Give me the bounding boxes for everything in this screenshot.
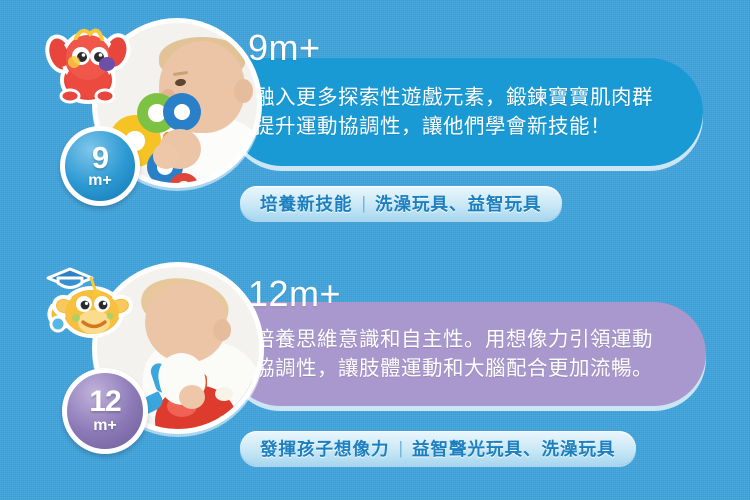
description-text-9m: 融入更多探索性遊戲元素，鍛鍊寶寶肌肉群 提升運動協調性，讓他們學會新技能！ xyxy=(254,83,653,141)
baby-hand xyxy=(153,143,179,169)
tagline-pill-12m: 發揮孩子想像力 | 益智聲光玩具、洗澡玩具 xyxy=(240,431,636,465)
age-section-9m: 融入更多探索性遊戲元素，鍛鍊寶寶肌肉群 提升運動協調性，讓他們學會新技能！ 9m… xyxy=(0,0,750,245)
ball-fin-white-icon xyxy=(215,387,233,401)
age-guide-poster: 融入更多探索性遊戲元素，鍛鍊寶寶肌肉群 提升運動協調性，讓他們學會新技能！ 9m… xyxy=(0,0,750,500)
description-panel-12m: 培養思維意識和自主性。用想像力引領運動 協調性，讓肢體運動和大腦配合更加流暢。 xyxy=(228,302,706,406)
age-badge-unit-12m: m+ xyxy=(93,418,117,434)
baby-ear xyxy=(234,79,253,103)
age-badge-number-9m: 9 xyxy=(92,143,108,173)
age-headline-12m: 12m+ xyxy=(248,276,341,312)
age-badge-unit-9m: m+ xyxy=(88,173,112,189)
age-headline-9m: 9m+ xyxy=(248,30,321,66)
tagline-pill-9m: 培養新技能 | 洗澡玩具、益智玩具 xyxy=(240,186,562,220)
tagline-benefit-12m: 發揮孩子想像力 xyxy=(260,436,390,461)
age-badge-number-12m: 12 xyxy=(89,388,120,417)
red-puppy-mascot-icon xyxy=(42,22,134,108)
age-section-12m: 培養思維意識和自主性。用想像力引領運動 協調性，讓肢體運動和大腦配合更加流暢。 … xyxy=(0,245,750,500)
description-panel-9m: 融入更多探索性遊戲元素，鍛鍊寶寶肌肉群 提升運動協調性，讓他們學會新技能！ xyxy=(228,58,703,166)
tagline-products-12m: 益智聲光玩具、洗澡玩具 xyxy=(412,436,616,461)
toddler-hand xyxy=(179,385,205,409)
description-text-12m: 培養思維意識和自主性。用想像力引領運動 協調性，讓肢體運動和大腦配合更加流暢。 xyxy=(254,325,653,383)
age-badge-12m: 12 m+ xyxy=(62,368,148,454)
tagline-benefit-9m: 培養新技能 xyxy=(260,191,353,216)
age-badge-9m: 9 m+ xyxy=(60,126,140,206)
tagline-separator-9m: | xyxy=(362,193,367,214)
yellow-giraffe-graduate-mascot-icon xyxy=(42,262,134,348)
gear-blue-icon xyxy=(163,93,201,131)
tagline-separator-12m: | xyxy=(399,438,404,459)
toddler-ear xyxy=(213,319,231,341)
tagline-products-9m: 洗澡玩具、益智玩具 xyxy=(375,191,542,216)
